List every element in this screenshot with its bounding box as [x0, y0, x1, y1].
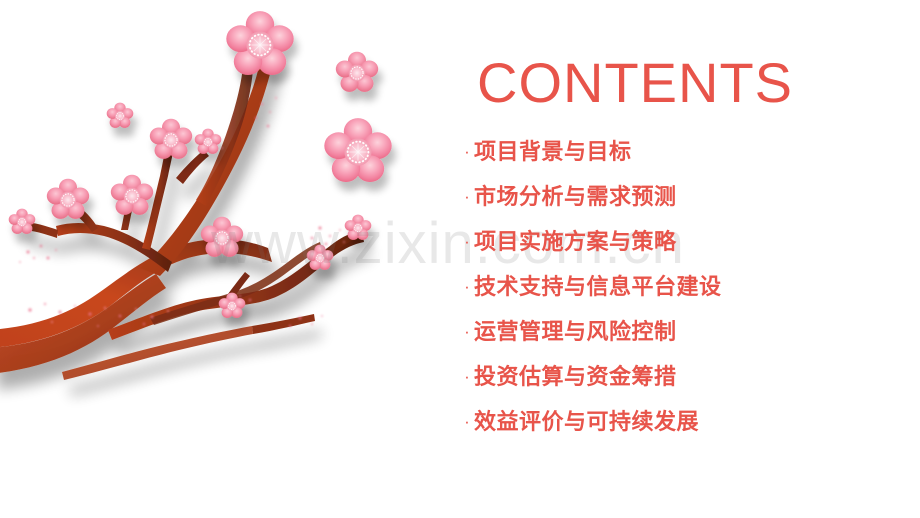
bullet-icon: · [460, 143, 474, 160]
list-item-label: 项目实施方案与策略 [474, 232, 677, 254]
list-item-label: 项目背景与目标 [474, 142, 632, 164]
blossom-icon [195, 129, 222, 154]
bullet-icon: · [460, 323, 474, 340]
list-item-label: 效益评价与可持续发展 [474, 412, 699, 434]
blossom-icon [226, 11, 293, 75]
plum-blossom-tree-illustration [0, 0, 470, 518]
bullet-icon: · [460, 368, 474, 385]
page-title: CONTENTS [477, 55, 793, 111]
contents-list: · 项目背景与目标 · 市场分析与需求预测 · 项目实施方案与策略 · 技术支持… [458, 142, 918, 457]
list-item-label: 运营管理与风险控制 [474, 322, 677, 344]
blossom-icon [324, 118, 391, 182]
list-item[interactable]: · 效益评价与可持续发展 [458, 412, 918, 457]
blossoms [9, 11, 392, 318]
bullet-icon: · [460, 413, 474, 430]
blossom-icon [201, 217, 243, 257]
contents-panel: CONTENTS · 项目背景与目标 · 市场分析与需求预测 · 项目实施方案与… [455, 0, 920, 518]
list-item[interactable]: · 技术支持与信息平台建设 [458, 277, 918, 322]
bullet-icon: · [460, 188, 474, 205]
list-item[interactable]: · 项目背景与目标 [458, 142, 918, 187]
list-item[interactable]: · 运营管理与风险控制 [458, 322, 918, 367]
blossom-icon [107, 103, 134, 128]
blossom-icon [336, 52, 378, 92]
blossom-icon [47, 179, 89, 219]
list-item-label: 市场分析与需求预测 [474, 187, 677, 209]
slide-canvas: www.zixin.com.cn CONTENTS · 项目背景与目标 · 市场… [0, 0, 920, 518]
list-item[interactable]: · 项目实施方案与策略 [458, 232, 918, 277]
bullet-icon: · [460, 233, 474, 250]
list-item-label: 技术支持与信息平台建设 [474, 277, 722, 299]
blossom-icon [111, 175, 153, 215]
bullet-icon: · [460, 278, 474, 295]
list-item-label: 投资估算与资金筹措 [474, 367, 677, 389]
blossom-icon [9, 209, 36, 234]
blossom-icon [150, 119, 192, 159]
list-item[interactable]: · 投资估算与资金筹措 [458, 367, 918, 412]
blossom-icon [345, 215, 372, 240]
list-item[interactable]: · 市场分析与需求预测 [458, 187, 918, 232]
